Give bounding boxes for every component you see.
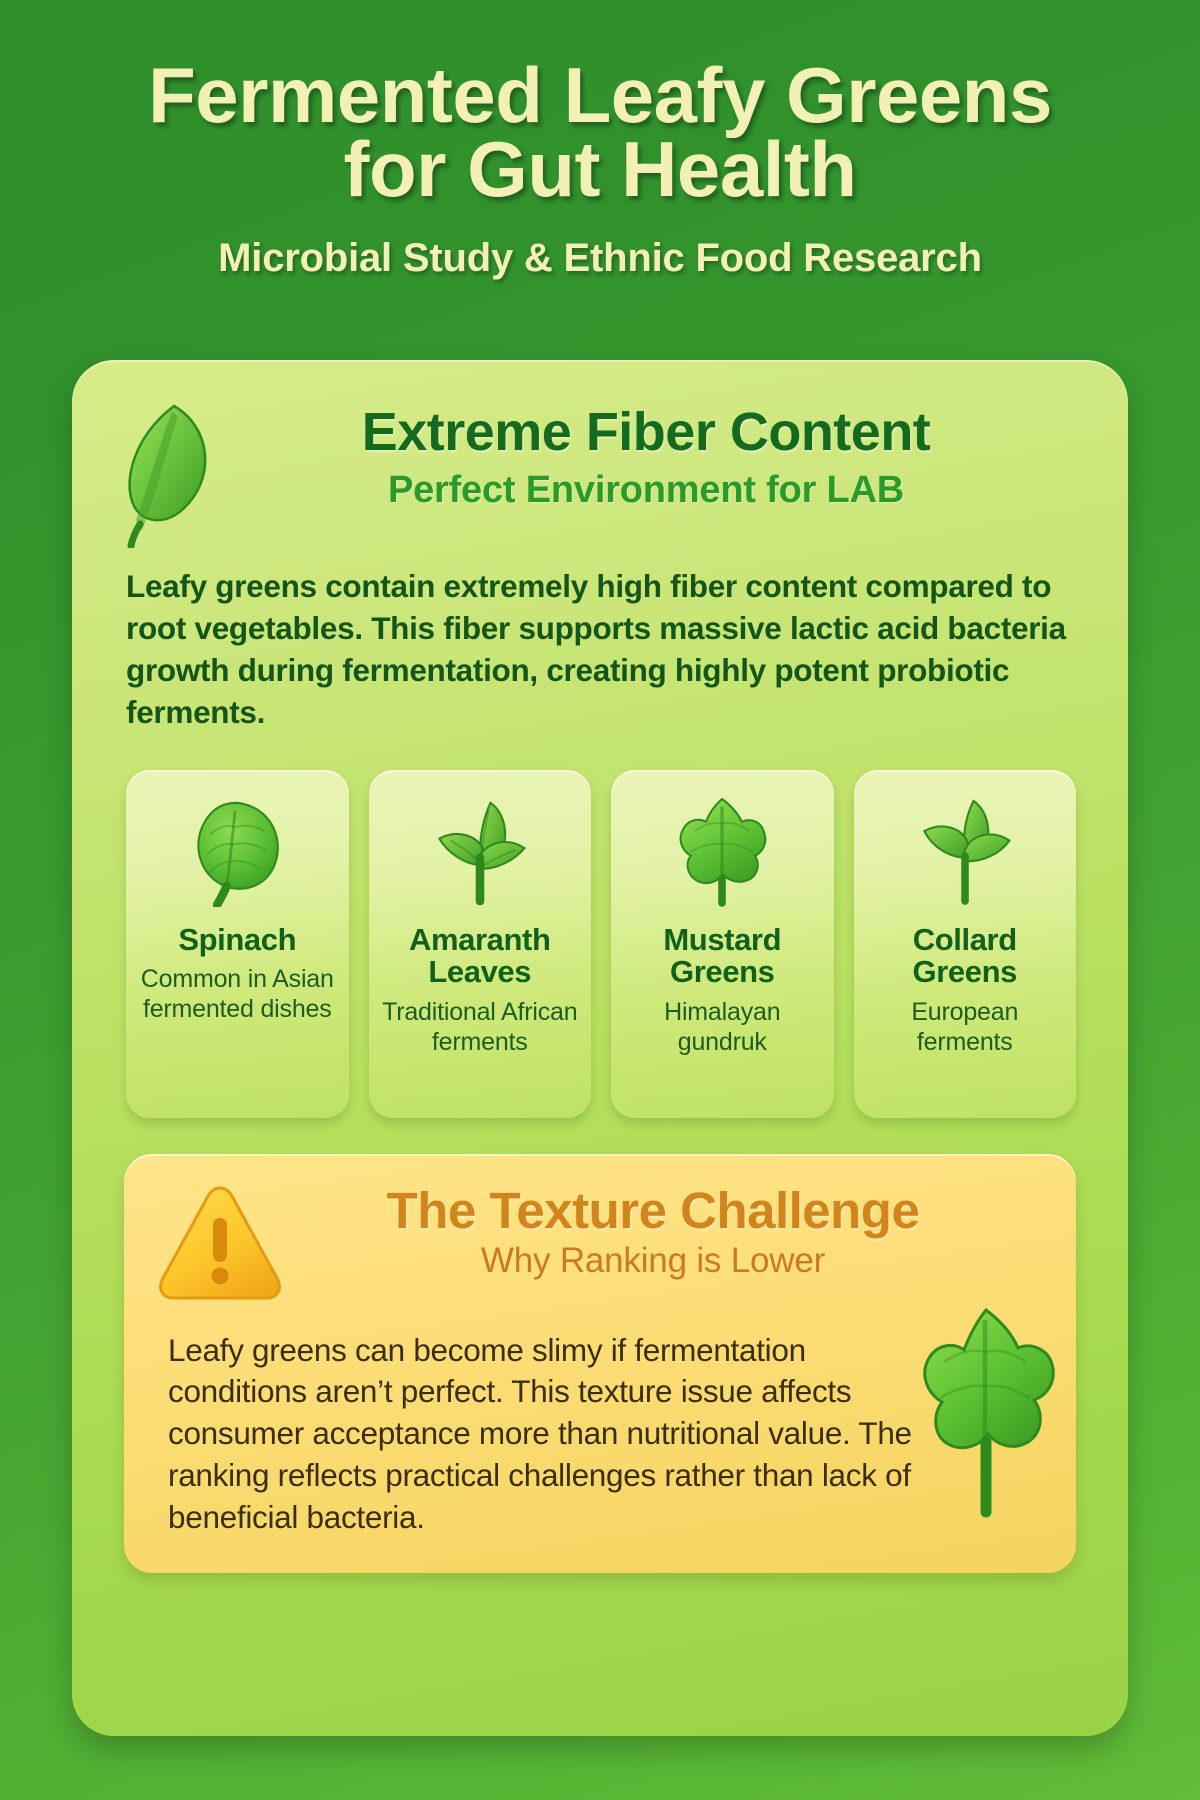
- collard-greens-leaf-icon: [864, 792, 1067, 910]
- page-subtitle: Microbial Study & Ethnic Food Research: [0, 236, 1200, 281]
- warning-header-text: The Texture Challenge Why Ranking is Low…: [300, 1180, 1046, 1282]
- main-content-panel: Extreme Fiber Content Perfect Environmen…: [72, 360, 1128, 1736]
- list-item-name: Spinach: [136, 924, 339, 957]
- page-title-line-2: for Gut Health: [60, 132, 1140, 206]
- section-subtitle: Perfect Environment for LAB: [246, 469, 1046, 512]
- section-header-text: Extreme Fiber Content Perfect Environmen…: [246, 394, 1094, 512]
- list-item-name: Collard Greens: [864, 924, 1067, 989]
- page-title: Fermented Leafy Greens for Gut Health: [0, 58, 1200, 206]
- list-item-name: Mustard Greens: [621, 924, 824, 989]
- warning-paragraph: Leafy greens can become slimy if ferment…: [168, 1330, 928, 1539]
- list-item-description: Common in Asian fermented dishes: [136, 964, 339, 1024]
- list-item-description: Traditional African ferments: [379, 997, 582, 1057]
- green-varieties-list: Spinach Common in Asian fermented dishes: [126, 770, 1076, 1118]
- warning-header: The Texture Challenge Why Ranking is Low…: [154, 1180, 1046, 1304]
- amaranth-sprout-icon: [379, 792, 582, 910]
- warning-triangle-icon: [154, 1180, 286, 1304]
- list-item[interactable]: Spinach Common in Asian fermented dishes: [126, 770, 349, 1118]
- list-item-description: Himalayan gundruk: [621, 997, 824, 1057]
- list-item-name: Amaranth Leaves: [379, 924, 582, 989]
- list-item-description: European ferments: [864, 997, 1067, 1057]
- page-header: Fermented Leafy Greens for Gut Health Mi…: [0, 0, 1200, 281]
- list-item[interactable]: Collard Greens European ferments: [854, 770, 1077, 1118]
- texture-challenge-card: The Texture Challenge Why Ranking is Low…: [124, 1154, 1076, 1573]
- warning-title: The Texture Challenge: [300, 1184, 1006, 1238]
- list-item[interactable]: Amaranth Leaves Traditional African ferm…: [369, 770, 592, 1118]
- section-header: Extreme Fiber Content Perfect Environmen…: [106, 394, 1094, 544]
- leaf-icon: [112, 398, 232, 548]
- spinach-leaf-icon: [136, 792, 339, 910]
- section-paragraph: Leafy greens contain extremely high fibe…: [126, 566, 1076, 734]
- section-title: Extreme Fiber Content: [246, 404, 1046, 461]
- collard-leaf-icon: [906, 1304, 1066, 1519]
- warning-subtitle: Why Ranking is Lower: [300, 1241, 1006, 1281]
- list-item[interactable]: Mustard Greens Himalayan gundruk: [611, 770, 834, 1118]
- mustard-greens-leaf-icon: [621, 792, 824, 910]
